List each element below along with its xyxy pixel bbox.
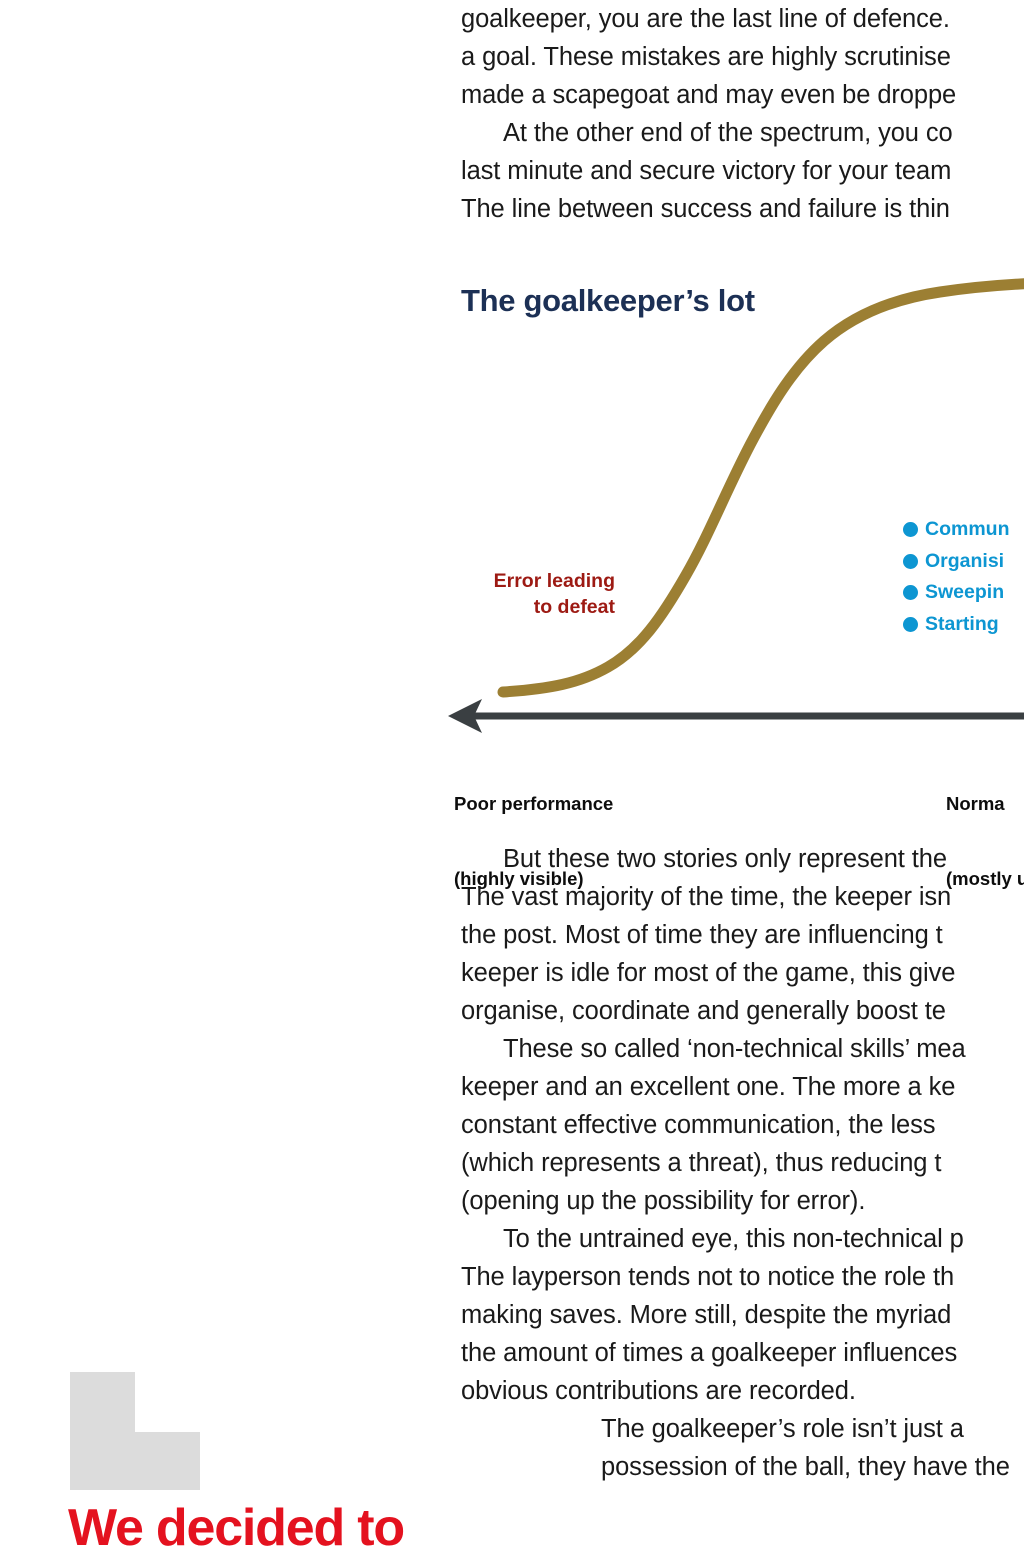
pull-quote-text: We decided to bbox=[68, 1498, 588, 1558]
legend-item: Organisi bbox=[903, 546, 1010, 578]
legend-item-label: Starting bbox=[925, 609, 999, 641]
text-line: These so called ‘non-technical skills’ m… bbox=[461, 1030, 1024, 1068]
legend-bullet-icon bbox=[903, 522, 918, 537]
goalkeeper-chart-figure: The goalkeeper’s lot Error leading to de… bbox=[440, 265, 1024, 795]
text-line: The line between success and failure is … bbox=[461, 190, 1024, 228]
pull-quote-mark-foot bbox=[70, 1432, 200, 1490]
text-line: made a scapegoat and may even be droppe bbox=[461, 76, 1024, 114]
text-line: The layperson tends not to notice the ro… bbox=[461, 1258, 1024, 1296]
text-line: last minute and secure victory for your … bbox=[461, 152, 1024, 190]
legend-bullet-icon bbox=[903, 617, 918, 632]
legend-item-label: Organisi bbox=[925, 546, 1004, 578]
text-line: constant effective communication, the le… bbox=[461, 1106, 1024, 1144]
text-line: a goal. These mistakes are highly scruti… bbox=[461, 38, 1024, 76]
text-line: making saves. More still, despite the my… bbox=[461, 1296, 1024, 1334]
legend-item: Sweepin bbox=[903, 577, 1010, 609]
text-line: The goalkeeper’s role isn’t just a bbox=[461, 1410, 1024, 1448]
article-text-body: But these two stories only represent the… bbox=[461, 840, 1024, 1486]
x-axis-left-heading: Poor performance bbox=[454, 791, 613, 816]
text-line: But these two stories only represent the bbox=[461, 840, 1024, 878]
text-line: (opening up the possibility for error). bbox=[461, 1182, 1024, 1220]
text-line: At the other end of the spectrum, you co bbox=[461, 114, 1024, 152]
legend-bullet-icon bbox=[903, 554, 918, 569]
legend-bullet-icon bbox=[903, 585, 918, 600]
legend-item-label: Commun bbox=[925, 514, 1010, 546]
x-axis-right-heading: Norma bbox=[946, 791, 1024, 816]
text-line: the post. Most of time they are influenc… bbox=[461, 916, 1024, 954]
legend-item: Commun bbox=[903, 514, 1010, 546]
text-line: goalkeeper, you are the last line of def… bbox=[461, 0, 1024, 38]
article-text-top: goalkeeper, you are the last line of def… bbox=[461, 0, 1024, 228]
text-line: keeper is idle for most of the game, thi… bbox=[461, 954, 1024, 992]
text-line: To the untrained eye, this non-technical… bbox=[461, 1220, 1024, 1258]
text-line: obvious contributions are recorded. bbox=[461, 1372, 1024, 1410]
chart-legend: Commun Organisi Sweepin Starting bbox=[903, 514, 1010, 640]
error-leading-to-defeat-label: Error leading to defeat bbox=[440, 568, 615, 620]
text-line: The vast majority of the time, the keepe… bbox=[461, 878, 1024, 916]
text-line: (which represents a threat), thus reduci… bbox=[461, 1144, 1024, 1182]
text-line: organise, coordinate and generally boost… bbox=[461, 992, 1024, 1030]
text-line: possession of the ball, they have the bbox=[461, 1448, 1024, 1486]
text-line: the amount of times a goalkeeper influen… bbox=[461, 1334, 1024, 1372]
text-line: keeper and an excellent one. The more a … bbox=[461, 1068, 1024, 1106]
legend-item-label: Sweepin bbox=[925, 577, 1004, 609]
legend-item: Starting bbox=[903, 609, 1010, 641]
pull-quote-mark-icon bbox=[70, 1372, 200, 1490]
